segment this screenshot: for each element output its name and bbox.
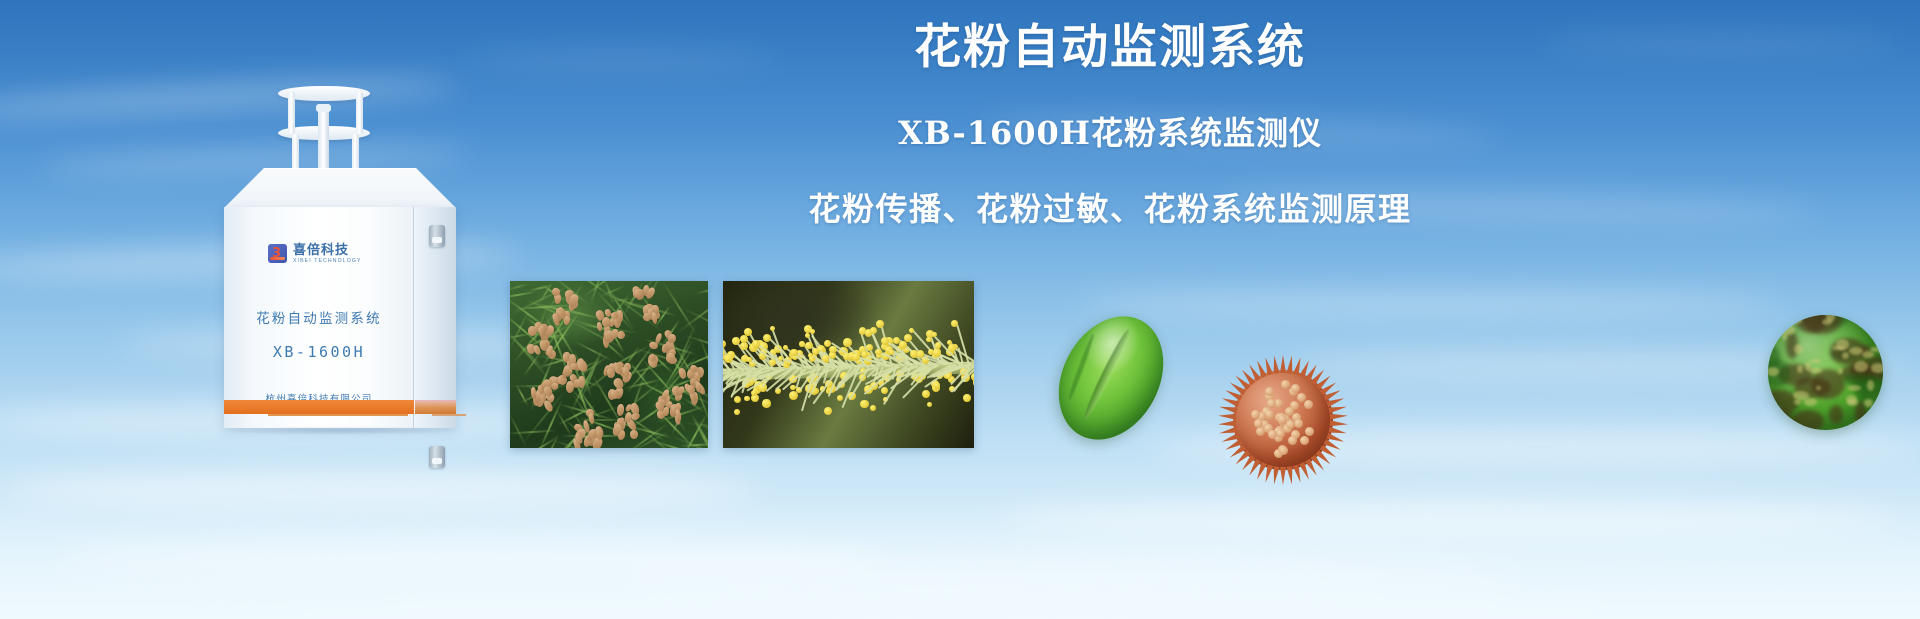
pollen-speck bbox=[1768, 324, 1769, 330]
pollen-anther bbox=[809, 356, 815, 362]
pollen-speck bbox=[1794, 344, 1803, 354]
cabinet-roof bbox=[224, 168, 456, 208]
page-title: 花粉自动监测系统 bbox=[560, 22, 1660, 74]
pollen-anther bbox=[805, 342, 813, 350]
horizon-haze bbox=[0, 499, 1920, 619]
pollen-spike bbox=[1218, 420, 1236, 427]
panel-accent-rule bbox=[268, 414, 408, 416]
conifer-frond bbox=[510, 413, 527, 447]
pollen-surface-knob bbox=[1265, 410, 1274, 419]
xibei-logo-icon: 3 bbox=[268, 244, 287, 263]
pollen-speck bbox=[1842, 352, 1849, 359]
pollen-anther bbox=[732, 337, 739, 344]
brand-logo: 3 喜倍科技 XIBEI TECHNOLOGY bbox=[268, 243, 362, 264]
pollen-anther bbox=[740, 342, 748, 350]
pollen-anther bbox=[799, 341, 804, 346]
cabinet-base-stripe-side bbox=[415, 400, 456, 414]
pollen-anther bbox=[752, 340, 760, 348]
pollen-spike bbox=[1271, 355, 1279, 374]
pollen-speck bbox=[1854, 421, 1867, 425]
cloud-streak bbox=[0, 470, 760, 510]
cedar-pollen-cones-photo bbox=[510, 281, 708, 448]
pollen-anther bbox=[870, 405, 876, 411]
sampling-head-column bbox=[352, 134, 359, 170]
pollen-anther bbox=[951, 320, 958, 327]
pollen-speck bbox=[1862, 351, 1874, 358]
spiky-red-pollen-grain bbox=[1218, 355, 1348, 485]
pollen-anther bbox=[860, 400, 869, 409]
logo-bar-glyph bbox=[270, 257, 285, 260]
sampling-inlet-cap bbox=[316, 104, 331, 112]
sampling-head-column bbox=[356, 92, 363, 134]
pollen-anther bbox=[852, 353, 860, 361]
pollen-anther bbox=[889, 350, 894, 355]
pollen-anther bbox=[963, 394, 970, 401]
pollen-cone bbox=[530, 386, 536, 398]
pollen-anther bbox=[926, 337, 931, 342]
pollen-anther bbox=[812, 348, 819, 355]
pollen-anther bbox=[899, 341, 906, 348]
pollen-cone bbox=[630, 430, 638, 439]
pollen-spike bbox=[1271, 466, 1279, 485]
sampling-head-column bbox=[292, 134, 299, 170]
mottled-green-pollen-grain bbox=[1768, 315, 1883, 430]
pollen-speck bbox=[1794, 399, 1801, 405]
pollen-blotch bbox=[1792, 410, 1824, 430]
conifer-frond bbox=[510, 282, 529, 291]
pollen-spike bbox=[1280, 355, 1286, 373]
cabinet-base-stripe-front bbox=[224, 400, 414, 414]
pollen-anther bbox=[763, 334, 771, 342]
pollen-speck bbox=[1849, 347, 1863, 355]
pollen-spike bbox=[1218, 413, 1236, 420]
pollen-speck bbox=[1816, 386, 1821, 389]
conifer-frond bbox=[510, 291, 538, 300]
cedar-foliage-background bbox=[510, 281, 708, 448]
pollen-speck bbox=[1854, 361, 1868, 372]
cabinet-ground-shadow bbox=[220, 426, 460, 435]
pollen-anther bbox=[762, 399, 770, 407]
pollen-speck bbox=[1797, 365, 1803, 373]
pollen-surface-knob bbox=[1300, 436, 1309, 445]
pollen-monitoring-banner: 花粉自动监测系统 XB-1600H花粉系统监测仪 花粉传播、花粉过敏、花粉系统监… bbox=[0, 0, 1920, 619]
pollen-surface-knob bbox=[1304, 400, 1313, 409]
pollen-surface-knob bbox=[1267, 399, 1276, 408]
catkin-pollen-photo bbox=[723, 281, 974, 448]
pollen-anther bbox=[934, 382, 940, 388]
pollen-anther bbox=[734, 396, 741, 403]
cloud-streak bbox=[300, 596, 1600, 619]
pollen-surface-knob bbox=[1276, 429, 1285, 438]
pollen-anther bbox=[769, 359, 776, 366]
pollen-speck bbox=[1867, 380, 1873, 391]
pollen-anther bbox=[843, 338, 852, 347]
pollen-speck bbox=[1810, 359, 1821, 363]
pollen-speck bbox=[1809, 368, 1822, 373]
pollen-anther bbox=[822, 355, 829, 362]
device-panel-title: 花粉自动监测系统 bbox=[224, 307, 414, 327]
pollen-anther bbox=[933, 349, 941, 357]
green-ellipsoid-pollen-grain bbox=[1038, 298, 1184, 458]
brand-name-en: XIBEI TECHNOLOGY bbox=[293, 259, 362, 264]
device-panel-model: XB-1600H bbox=[224, 343, 414, 361]
feature-tagline: 花粉传播、花粉过敏、花粉系统监测原理 bbox=[560, 184, 1660, 230]
pollen-speck bbox=[1870, 347, 1883, 352]
pollen-anther bbox=[861, 351, 868, 358]
pollen-speck bbox=[1847, 399, 1859, 406]
cabinet-latch-upper[interactable] bbox=[429, 225, 445, 247]
sampling-inlet-tube bbox=[318, 106, 329, 172]
pollen-monitor-device: 3 喜倍科技 XIBEI TECHNOLOGY 花粉自动监测系统 XB-1600… bbox=[210, 78, 470, 438]
brand-logo-text: 喜倍科技 XIBEI TECHNOLOGY bbox=[293, 243, 362, 264]
pollen-speck bbox=[1849, 315, 1863, 318]
pollen-anther bbox=[881, 337, 889, 345]
pollen-surface-knob bbox=[1254, 419, 1263, 428]
pollen-speck bbox=[1826, 315, 1835, 322]
pollen-spike bbox=[1280, 467, 1286, 485]
pollen-speck bbox=[1848, 385, 1861, 391]
pollen-speck bbox=[1864, 399, 1873, 407]
panel-accent-rule-side bbox=[432, 414, 466, 416]
cabinet-body: 3 喜倍科技 XIBEI TECHNOLOGY 花粉自动监测系统 XB-1600… bbox=[224, 207, 456, 428]
banner-heading-group: 花粉自动监测系统 XB-1600H花粉系统监测仪 花粉传播、花粉过敏、花粉系统监… bbox=[560, 22, 1660, 230]
pollen-anther bbox=[973, 378, 974, 386]
pollen-anther bbox=[744, 396, 749, 401]
pollen-furrow-secondary bbox=[1067, 333, 1096, 400]
pollen-speck bbox=[1871, 363, 1883, 373]
pollen-anther bbox=[875, 349, 881, 355]
pollen-surface-knob bbox=[1251, 410, 1260, 419]
cloud-streak bbox=[1000, 500, 1900, 540]
sampling-head-column bbox=[288, 92, 295, 134]
pollen-cone bbox=[554, 294, 561, 303]
pollen-blotch bbox=[1829, 405, 1843, 424]
pollen-anther bbox=[876, 320, 883, 327]
conifer-frond bbox=[695, 283, 708, 295]
cloud-streak bbox=[1080, 290, 1780, 318]
product-model-subtitle: XB-1600H花粉系统监测仪 bbox=[560, 108, 1660, 154]
cloud-streak bbox=[620, 556, 1520, 600]
pollen-surface-knob bbox=[1297, 393, 1306, 402]
cabinet-latch-lower[interactable] bbox=[429, 446, 445, 468]
pollen-anther bbox=[917, 350, 925, 358]
pollen-speck bbox=[1836, 339, 1849, 350]
pollen-anther bbox=[927, 402, 932, 407]
pollen-spike bbox=[1330, 413, 1348, 420]
cloud-streak bbox=[60, 540, 880, 582]
brand-name-cn: 喜倍科技 bbox=[293, 243, 362, 256]
